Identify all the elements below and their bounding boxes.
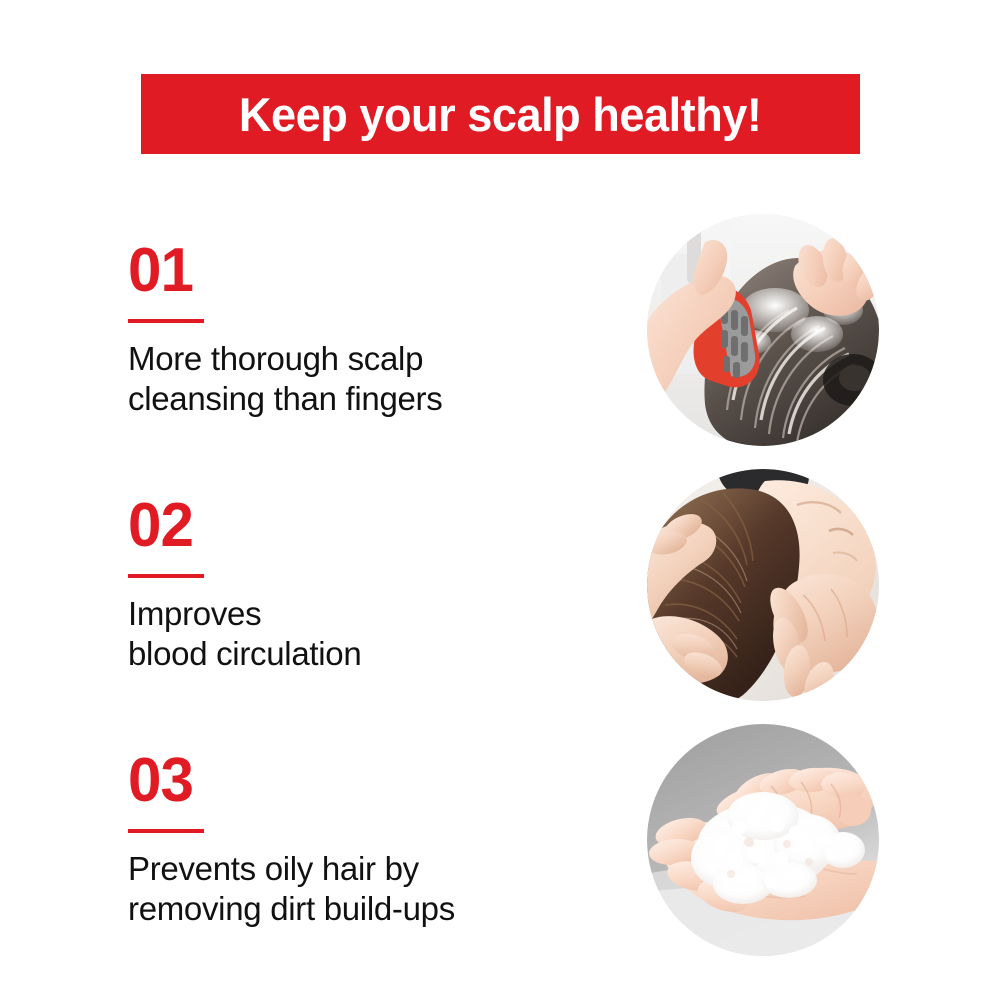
header-banner: Keep your scalp healthy! [141,74,860,154]
feature-number: 03 [128,722,594,812]
feature-description-line-2: blood circulation [128,634,608,674]
feature-rule [128,319,204,323]
feature-description-line-1: Prevents oily hair by [128,849,608,889]
feature-item-03: 03 Prevents oily hair by removing dirt b… [0,722,1000,977]
feature-item-01: 01 More thorough scalp cleansing than fi… [0,212,1000,467]
feature-description: Prevents oily hair by removing dirt buil… [128,849,608,929]
feature-description: Improves blood circulation [128,594,608,674]
feature-description-line-1: Improves [128,594,608,634]
feature-text-block: 02 Improves blood circulation [128,467,608,674]
feature-number: 02 [128,467,594,557]
scalp-massage-photo [647,469,879,701]
feature-item-02: 02 Improves blood circulation [0,467,1000,722]
infographic-poster: Keep your scalp healthy! 01 More thoroug… [0,0,1000,1000]
feature-rule [128,574,204,578]
feature-rule [128,829,204,833]
feature-text-block: 01 More thorough scalp cleansing than fi… [128,212,608,419]
feature-description: More thorough scalp cleansing than finge… [128,339,608,419]
feature-text-block: 03 Prevents oily hair by removing dirt b… [128,722,608,929]
feature-description-line-1: More thorough scalp [128,339,608,379]
scalp-brush-shampoo-photo [647,214,879,446]
feature-list: 01 More thorough scalp cleansing than fi… [0,212,1000,977]
foam-in-hands-photo [647,724,879,956]
feature-description-line-2: removing dirt build-ups [128,889,608,929]
feature-description-line-2: cleansing than fingers [128,379,608,419]
page-title: Keep your scalp healthy! [239,91,762,138]
feature-number: 01 [128,212,594,302]
